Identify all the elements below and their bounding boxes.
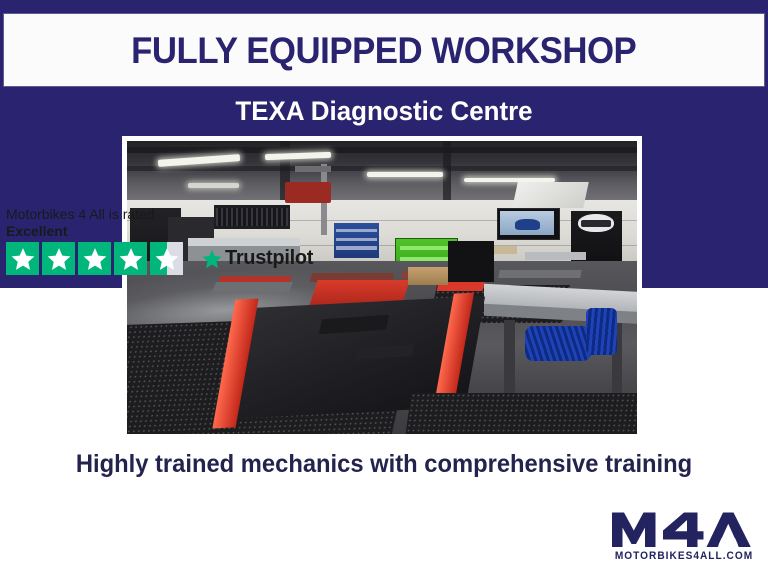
title-banner: FULLY EQUIPPED WORKSHOP — [4, 14, 764, 86]
trustpilot-rated-text: Motorbikes 4 All is rated — [6, 206, 326, 222]
photo-tv-motorbike — [515, 219, 541, 231]
trustpilot-star-icon — [201, 248, 223, 270]
photo-duct — [512, 182, 589, 208]
company-logo[interactable]: MOTORBIKES4ALL.COM — [608, 508, 760, 562]
photo-chest-drawer — [400, 246, 451, 250]
trustpilot-score-label: Excellent — [6, 223, 326, 239]
photo-helmet-visor — [581, 220, 612, 226]
photo-chest-drawer — [336, 229, 377, 233]
photo-chest-drawer — [336, 246, 377, 250]
photo-ceiling-light — [188, 183, 239, 187]
photo-partition — [448, 241, 494, 282]
trustpilot-widget[interactable]: Motorbikes 4 All is rated Excellent — [6, 206, 326, 275]
photo-hoist-body — [285, 182, 331, 203]
photo-ramp — [499, 270, 582, 278]
trustpilot-brand[interactable]: Trustpilot — [201, 247, 313, 270]
logo-subtext: MOTORBIKES4ALL.COM — [614, 550, 754, 562]
photo-ceiling-beam — [127, 147, 637, 153]
photo-ceiling-beam — [127, 166, 637, 171]
photo-air-hose-coil — [525, 326, 591, 361]
star-icon — [42, 242, 75, 275]
subtitle: TEXA Diagnostic Centre — [15, 98, 752, 125]
star-icon — [6, 242, 39, 275]
photo-rubber-mat — [404, 393, 637, 434]
trustpilot-brand-name: Trustpilot — [225, 247, 313, 270]
star-icon — [78, 242, 111, 275]
photo-frame — [122, 136, 642, 439]
photo-ramp — [212, 282, 293, 292]
photo-chest-drawer — [400, 257, 451, 261]
photo-chest-drawer — [336, 238, 377, 242]
photo-air-hose-coil — [586, 308, 617, 355]
photo-hoist-beam — [295, 166, 331, 172]
page-title: FULLY EQUIPPED WORKSHOP — [131, 32, 636, 69]
caption-text: Highly trained mechanics with comprehens… — [19, 452, 749, 477]
advert-card: FULLY EQUIPPED WORKSHOP TEXA Diagnostic … — [0, 0, 768, 576]
photo-ceiling-light — [367, 172, 444, 177]
m4a-logo-icon — [608, 508, 760, 550]
trustpilot-rating-row: Trustpilot — [6, 242, 326, 275]
workshop-photo — [127, 141, 637, 434]
star-half-icon — [150, 242, 183, 275]
photo-bench — [525, 252, 586, 259]
photo-ceiling-beam — [443, 141, 451, 203]
trustpilot-stars — [6, 242, 183, 275]
star-icon — [114, 242, 147, 275]
photo-cardboard-box — [408, 267, 449, 285]
